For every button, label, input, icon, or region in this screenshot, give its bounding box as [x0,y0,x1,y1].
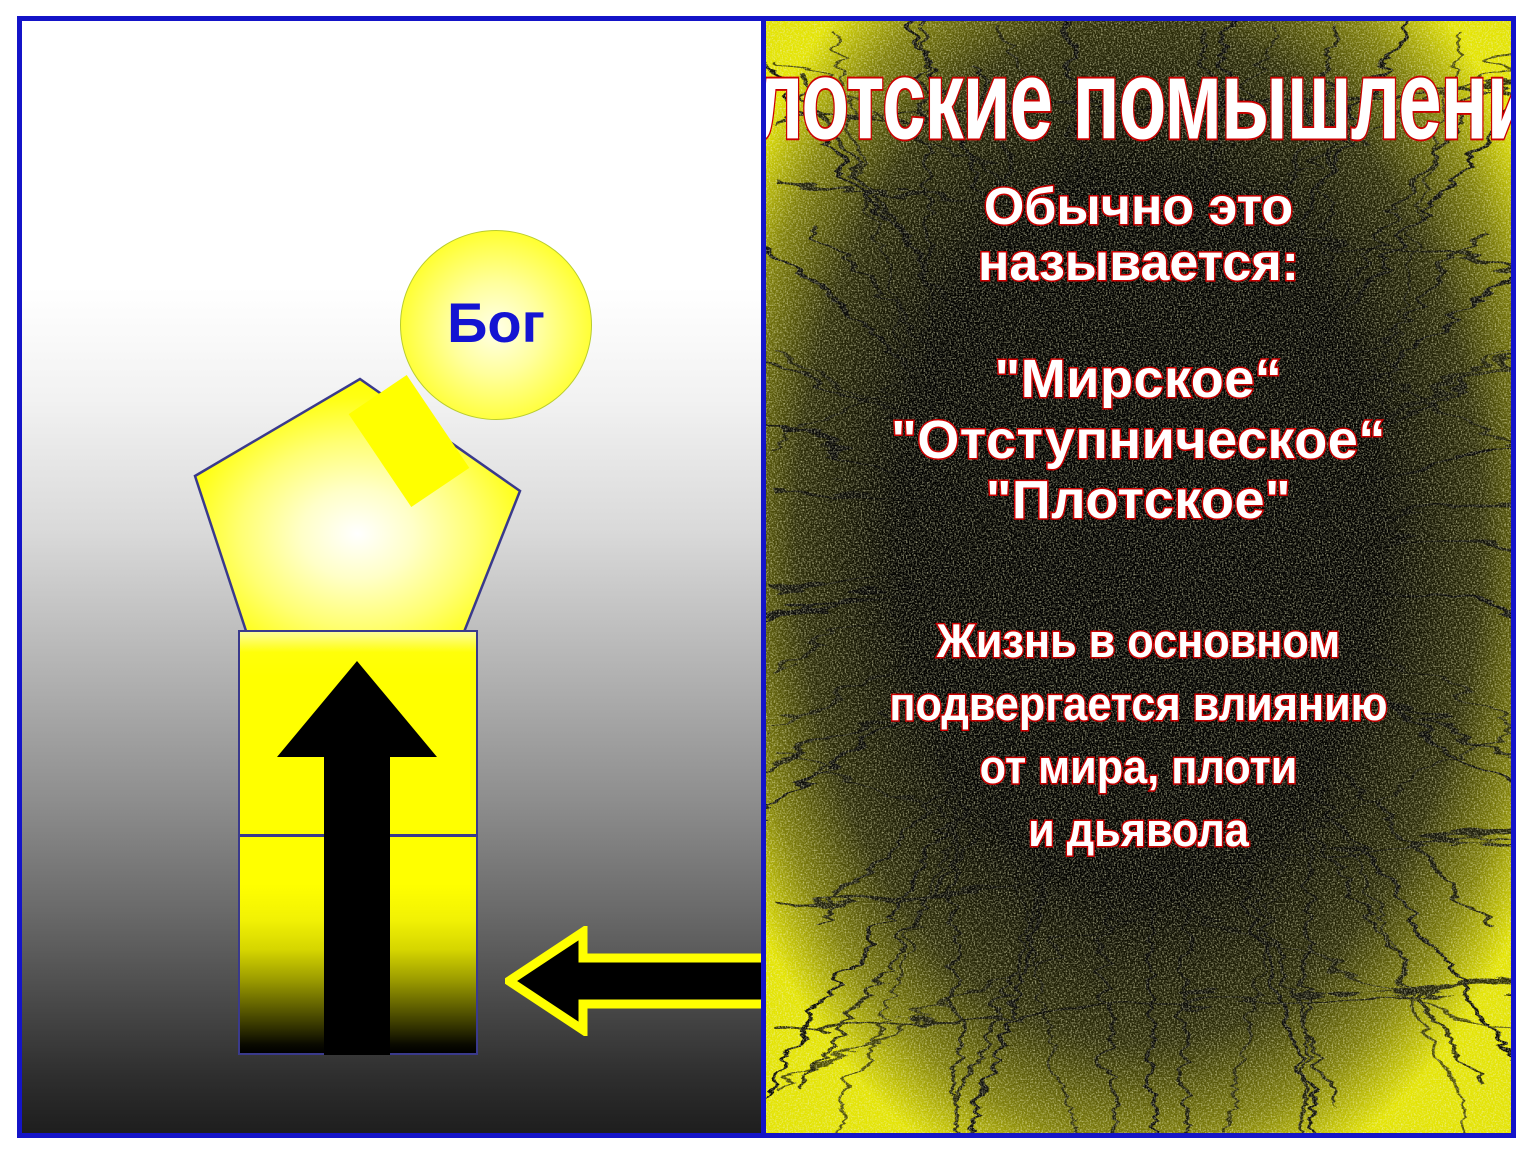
god-circle: Бог [400,230,592,420]
right-text-panel: Плотские помышления Обычно это называетс… [761,16,1516,1138]
term-1: "Мирское“ [766,349,1511,409]
body-line-4: и дьявола [796,806,1481,853]
terms-block: "Мирское“ "Отступническое“ "Плотское" [766,349,1511,530]
left-diagram-panel: Бог [17,16,761,1138]
god-label: Бог [447,295,545,351]
term-2: "Отступническое“ [766,410,1511,470]
intro-line-2: называется: [766,235,1511,291]
body-block: Жизнь в основном подвергается влиянию от… [766,617,1511,853]
body-line-2: подвергается влиянию [796,680,1481,727]
intro-line-1: Обычно это [766,179,1511,235]
body-line-3: от мира, плоти [796,743,1481,790]
panel-title: Плотские помышления [761,43,1516,156]
left-arrow-icon [505,926,761,1036]
intro-block: Обычно это называется: [766,179,1511,291]
up-arrow-icon [277,661,437,1055]
slide-canvas: Бог [0,0,1533,1158]
body-line-1: Жизнь в основном [796,617,1481,664]
term-3: "Плотское" [766,470,1511,530]
